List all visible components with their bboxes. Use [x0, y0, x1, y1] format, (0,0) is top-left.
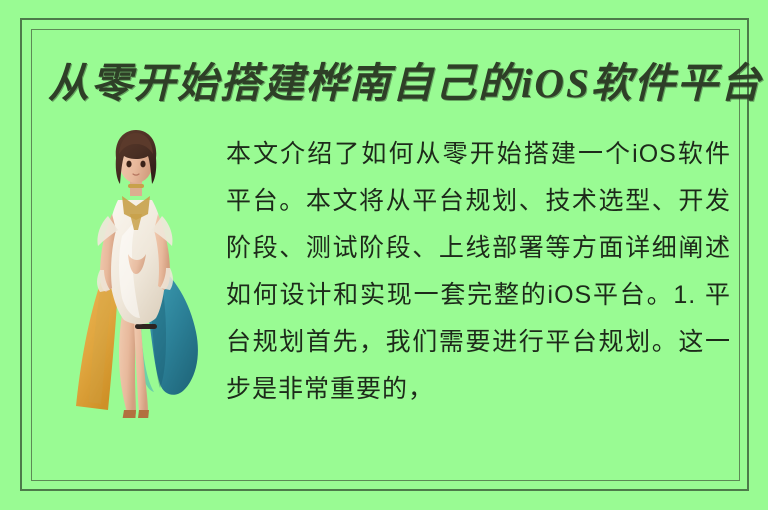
- left-shoe: [122, 410, 136, 418]
- page-title: 从零开始搭建桦南自己的iOS软件平台: [48, 54, 720, 112]
- article-body: 本文介绍了如何从零开始搭建一个iOS软件平台。本文将从平台规划、技术选型、开发阶…: [226, 131, 731, 413]
- character-illustration-svg: [56, 128, 216, 418]
- character-illustration: [56, 128, 216, 418]
- left-eye: [126, 161, 131, 168]
- right-eye: [140, 161, 145, 168]
- left-leg: [119, 314, 136, 414]
- poster-canvas: 从零开始搭建桦南自己的iOS软件平台: [0, 0, 768, 510]
- thigh-band: [135, 324, 157, 329]
- choker: [128, 184, 144, 188]
- right-shoe: [138, 410, 149, 418]
